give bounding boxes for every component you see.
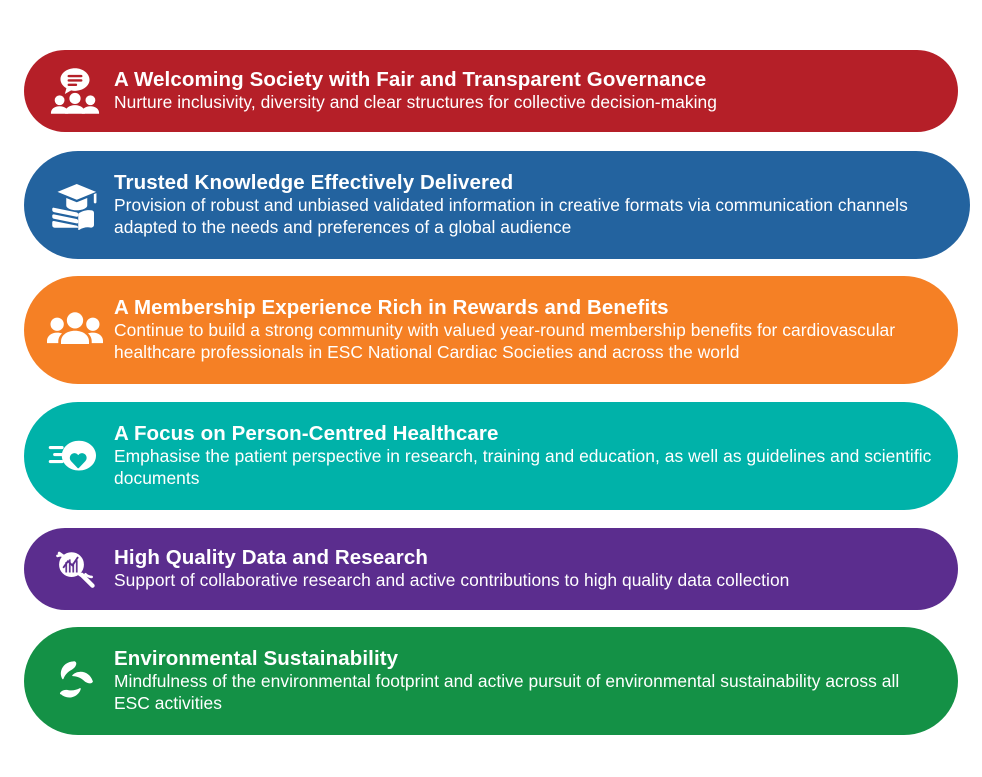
priority-bar-text: High Quality Data and Research Support o…	[114, 546, 932, 593]
priority-bar-description: Support of collaborative research and ac…	[114, 570, 932, 592]
priority-bar-trusted-knowledge[interactable]: Trusted Knowledge Effectively Delivered …	[24, 151, 970, 259]
priority-bar-title: A Membership Experience Rich in Rewards …	[114, 296, 932, 320]
priority-bar-welcoming-society[interactable]: A Welcoming Society with Fair and Transp…	[24, 50, 958, 132]
priority-bar-description: Provision of robust and unbiased validat…	[114, 195, 944, 239]
hand-holding-heart-icon	[46, 427, 104, 485]
priority-bar-text: Trusted Knowledge Effectively Delivered …	[114, 171, 944, 240]
priority-bar-text: Environmental Sustainability Mindfulness…	[114, 647, 932, 716]
graduation-cap-books-icon	[46, 176, 104, 234]
priority-bar-title: A Welcoming Society with Fair and Transp…	[114, 68, 932, 92]
priority-bar-environmental-sustainability[interactable]: Environmental Sustainability Mindfulness…	[24, 627, 958, 735]
priority-bar-text: A Welcoming Society with Fair and Transp…	[114, 68, 932, 115]
priority-bar-text: A Focus on Person-Centred Healthcare Emp…	[114, 422, 932, 491]
magnifier-dna-chart-icon	[46, 540, 104, 598]
recycling-leaves-icon	[46, 652, 104, 710]
priority-bar-membership-experience[interactable]: A Membership Experience Rich in Rewards …	[24, 276, 958, 384]
group-of-people-icon	[46, 301, 104, 359]
priority-bar-description: Mindfulness of the environmental footpri…	[114, 671, 932, 715]
speech-bubble-people-icon	[46, 62, 104, 120]
priority-bar-text: A Membership Experience Rich in Rewards …	[114, 296, 932, 365]
priority-bar-description: Continue to build a strong community wit…	[114, 320, 932, 364]
infographic-card: A Welcoming Society with Fair and Transp…	[0, 0, 982, 777]
priority-bars-list: A Welcoming Society with Fair and Transp…	[0, 0, 982, 777]
priority-bar-title: High Quality Data and Research	[114, 546, 932, 570]
priority-bar-title: Trusted Knowledge Effectively Delivered	[114, 171, 944, 195]
priority-bar-title: A Focus on Person-Centred Healthcare	[114, 422, 932, 446]
priority-bar-description: Nurture inclusivity, diversity and clear…	[114, 92, 932, 114]
priority-bar-data-and-research[interactable]: High Quality Data and Research Support o…	[24, 528, 958, 610]
priority-bar-description: Emphasise the patient perspective in res…	[114, 446, 932, 490]
priority-bar-title: Environmental Sustainability	[114, 647, 932, 671]
priority-bar-person-centred-healthcare[interactable]: A Focus on Person-Centred Healthcare Emp…	[24, 402, 958, 510]
